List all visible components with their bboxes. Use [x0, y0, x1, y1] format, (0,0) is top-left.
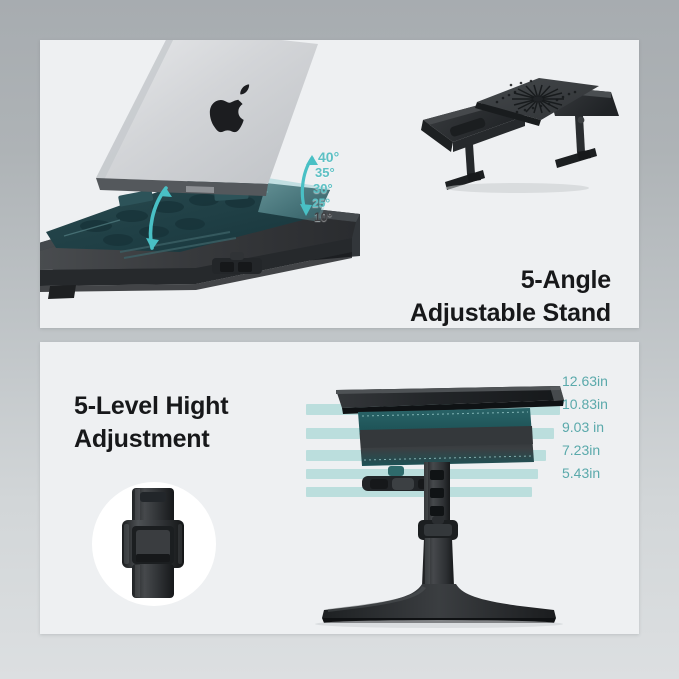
height-label-1: 12.63in: [562, 374, 636, 397]
infographic-stage: 40° 35° 30° 25° 10° 5-Angle Adjustable S…: [0, 0, 679, 679]
headline-angle-adjustable: 5-Angle Adjustable Stand: [410, 264, 611, 328]
panel-angle-adjustable: 40° 35° 30° 25° 10° 5-Angle Adjustable S…: [40, 40, 639, 328]
height-measurement-labels: 12.63in 10.83in 9.03 in 7.23in 5.43in: [562, 374, 636, 489]
photo-laptop-desk-product: [405, 58, 630, 198]
height-label-3: 9.03 in: [562, 420, 636, 443]
photo-height-adjustable-stand: [298, 378, 578, 622]
panel-height-adjustment: 5-Level Hight Adjustment: [40, 342, 639, 634]
angle-range-arrow: [292, 148, 332, 224]
height-label-2: 10.83in: [562, 397, 636, 420]
inset-height-lock-closeup: [92, 482, 216, 606]
height-label-5: 5.43in: [562, 466, 636, 489]
height-label-4: 7.23in: [562, 443, 636, 466]
headline-height-adjustment: 5-Level Hight Adjustment: [74, 390, 228, 456]
